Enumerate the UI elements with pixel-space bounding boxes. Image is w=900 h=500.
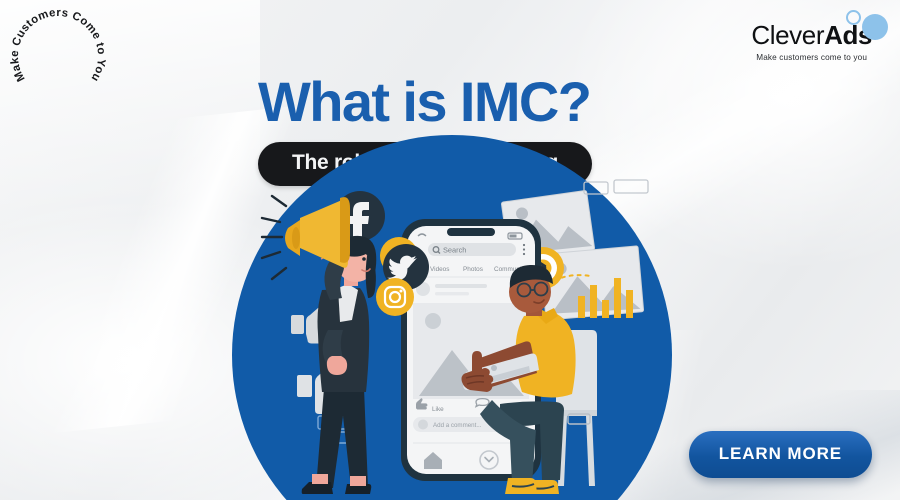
phone-tab-videos[interactable]: Videos (430, 266, 449, 273)
phone-tab-photos[interactable]: Photos (463, 266, 483, 273)
phone-search-placeholder: Search (443, 246, 466, 255)
marketing-banner: Make Customers Come to You CleverAds Mak… (0, 0, 900, 500)
phone-search-bar[interactable] (428, 243, 516, 256)
like-label[interactable]: Like (432, 406, 444, 413)
comment-placeholder: Add a comment... (433, 422, 482, 429)
more-menu-icon[interactable] (523, 244, 525, 246)
instagram-icon[interactable] (376, 278, 414, 316)
card-outline-icon (614, 180, 648, 193)
learn-more-label: LEARN MORE (719, 444, 842, 463)
more-menu-icon[interactable] (523, 253, 525, 255)
more-menu-icon[interactable] (523, 248, 525, 250)
learn-more-button[interactable]: LEARN MORE (689, 431, 872, 478)
hero-illustration: Search Videos Photos Community Like Comm… (0, 0, 900, 500)
avatar (418, 420, 428, 430)
